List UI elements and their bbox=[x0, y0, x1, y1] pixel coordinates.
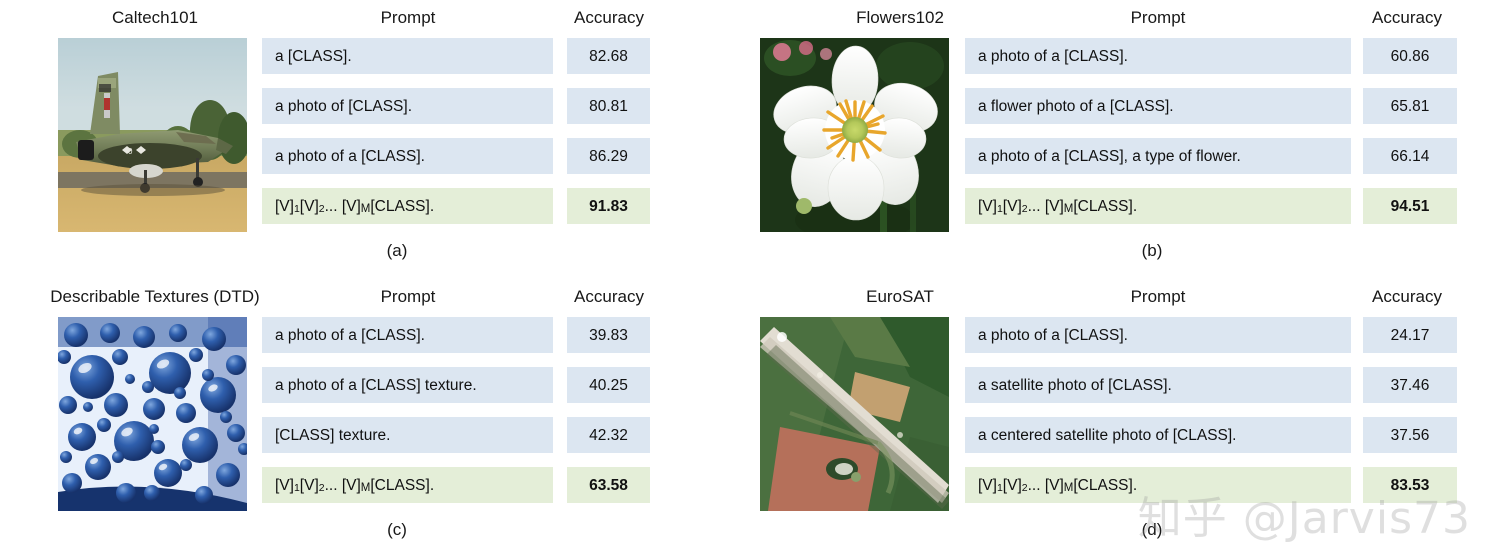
panel-eurosat: EuroSAT Prompt Accuracy bbox=[745, 279, 1489, 558]
prompt-text: [V]1 [V]2 ... [V]M [CLASS]. bbox=[965, 188, 1351, 224]
column-header-prompt: Prompt bbox=[262, 8, 554, 28]
prompt-text: a photo of a [CLASS]. bbox=[965, 38, 1351, 74]
accuracy-value: 60.86 bbox=[1363, 38, 1457, 74]
accuracy-value: 82.68 bbox=[567, 38, 650, 74]
dataset-thumbnail-eurosat bbox=[760, 317, 949, 511]
column-header-prompt: Prompt bbox=[262, 287, 554, 307]
prompt-text: a photo of a [CLASS]. bbox=[965, 317, 1351, 353]
prompt-table-dtd: a photo of a [CLASS]. 39.83 a photo of a… bbox=[262, 317, 652, 503]
prompt-text: a photo of a [CLASS]. bbox=[262, 317, 553, 353]
prompt-text: [V]1 [V]2 ... [V]M [CLASS]. bbox=[262, 188, 553, 224]
accuracy-value: 80.81 bbox=[567, 88, 650, 124]
accuracy-value: 40.25 bbox=[567, 367, 650, 403]
table-row-learned-prompt: [V]1 [V]2 ... [V]M [CLASS]. 83.53 bbox=[965, 467, 1457, 503]
subfigure-caption: (b) bbox=[745, 240, 1489, 262]
column-header-accuracy: Accuracy bbox=[560, 8, 658, 28]
panel-caltech101: Caltech101 Prompt Accuracy bbox=[0, 0, 744, 279]
column-header-prompt: Prompt bbox=[965, 287, 1351, 307]
table-row: a photo of a [CLASS] texture. 40.25 bbox=[262, 367, 652, 403]
accuracy-value: 42.32 bbox=[567, 417, 650, 453]
table-row: a [CLASS]. 82.68 bbox=[262, 38, 652, 74]
table-row: [CLASS] texture. 42.32 bbox=[262, 417, 652, 453]
prompt-table-caltech101: a [CLASS]. 82.68 a photo of [CLASS]. 80.… bbox=[262, 38, 652, 224]
dataset-title-dtd: Describable Textures (DTD) bbox=[10, 287, 300, 307]
accuracy-value: 86.29 bbox=[567, 138, 650, 174]
svg-text:0: 0 bbox=[128, 147, 133, 156]
accuracy-value: 37.46 bbox=[1363, 367, 1457, 403]
accuracy-value: 39.83 bbox=[567, 317, 650, 353]
subfigure-caption: (d) bbox=[745, 519, 1489, 541]
column-header-accuracy: Accuracy bbox=[1357, 287, 1457, 307]
dataset-thumbnail-dtd bbox=[58, 317, 247, 511]
prompt-text: a satellite photo of [CLASS]. bbox=[965, 367, 1351, 403]
table-row-learned-prompt: [V]1 [V]2 ... [V]M [CLASS]. 63.58 bbox=[262, 467, 652, 503]
subfigure-caption: (a) bbox=[0, 240, 744, 262]
dataset-thumbnail-caltech101: 0 bbox=[58, 38, 247, 232]
prompt-text: [CLASS] texture. bbox=[262, 417, 553, 453]
prompt-text: a photo of a [CLASS] texture. bbox=[262, 367, 553, 403]
panel-dtd: Describable Textures (DTD) Prompt Accura… bbox=[0, 279, 744, 558]
accuracy-value: 24.17 bbox=[1363, 317, 1457, 353]
prompt-comparison-figure: Caltech101 Prompt Accuracy bbox=[0, 0, 1489, 558]
prompt-text: a [CLASS]. bbox=[262, 38, 553, 74]
column-header-prompt: Prompt bbox=[965, 8, 1351, 28]
table-row: a photo of [CLASS]. 80.81 bbox=[262, 88, 652, 124]
accuracy-value: 63.58 bbox=[567, 467, 650, 503]
accuracy-value: 91.83 bbox=[567, 188, 650, 224]
table-row-learned-prompt: [V]1 [V]2 ... [V]M [CLASS]. 91.83 bbox=[262, 188, 652, 224]
panel-flowers102: Flowers102 Prompt Accuracy bbox=[745, 0, 1489, 279]
table-row: a centered satellite photo of [CLASS]. 3… bbox=[965, 417, 1457, 453]
prompt-text: a flower photo of a [CLASS]. bbox=[965, 88, 1351, 124]
accuracy-value: 37.56 bbox=[1363, 417, 1457, 453]
prompt-text: a photo of [CLASS]. bbox=[262, 88, 553, 124]
table-row: a photo of a [CLASS]. 24.17 bbox=[965, 317, 1457, 353]
subfigure-caption: (c) bbox=[0, 519, 744, 541]
prompt-table-flowers102: a photo of a [CLASS]. 60.86 a flower pho… bbox=[965, 38, 1457, 224]
dataset-title-caltech101: Caltech101 bbox=[10, 8, 300, 28]
table-row: a photo of a [CLASS]. 86.29 bbox=[262, 138, 652, 174]
column-header-accuracy: Accuracy bbox=[560, 287, 658, 307]
accuracy-value: 65.81 bbox=[1363, 88, 1457, 124]
table-row: a satellite photo of [CLASS]. 37.46 bbox=[965, 367, 1457, 403]
prompt-text: a centered satellite photo of [CLASS]. bbox=[965, 417, 1351, 453]
table-row-learned-prompt: [V]1 [V]2 ... [V]M [CLASS]. 94.51 bbox=[965, 188, 1457, 224]
table-row: a photo of a [CLASS]. 60.86 bbox=[965, 38, 1457, 74]
table-row: a photo of a [CLASS]. 39.83 bbox=[262, 317, 652, 353]
accuracy-value: 94.51 bbox=[1363, 188, 1457, 224]
prompt-text: a photo of a [CLASS]. bbox=[262, 138, 553, 174]
accuracy-value: 66.14 bbox=[1363, 138, 1457, 174]
table-row: a flower photo of a [CLASS]. 65.81 bbox=[965, 88, 1457, 124]
prompt-text: [V]1 [V]2 ... [V]M [CLASS]. bbox=[262, 467, 553, 503]
prompt-text: a photo of a [CLASS], a type of flower. bbox=[965, 138, 1351, 174]
prompt-table-eurosat: a photo of a [CLASS]. 24.17 a satellite … bbox=[965, 317, 1457, 503]
dataset-thumbnail-flowers102 bbox=[760, 38, 949, 232]
table-row: a photo of a [CLASS], a type of flower. … bbox=[965, 138, 1457, 174]
column-header-accuracy: Accuracy bbox=[1357, 8, 1457, 28]
prompt-text: [V]1 [V]2 ... [V]M [CLASS]. bbox=[965, 467, 1351, 503]
accuracy-value: 83.53 bbox=[1363, 467, 1457, 503]
